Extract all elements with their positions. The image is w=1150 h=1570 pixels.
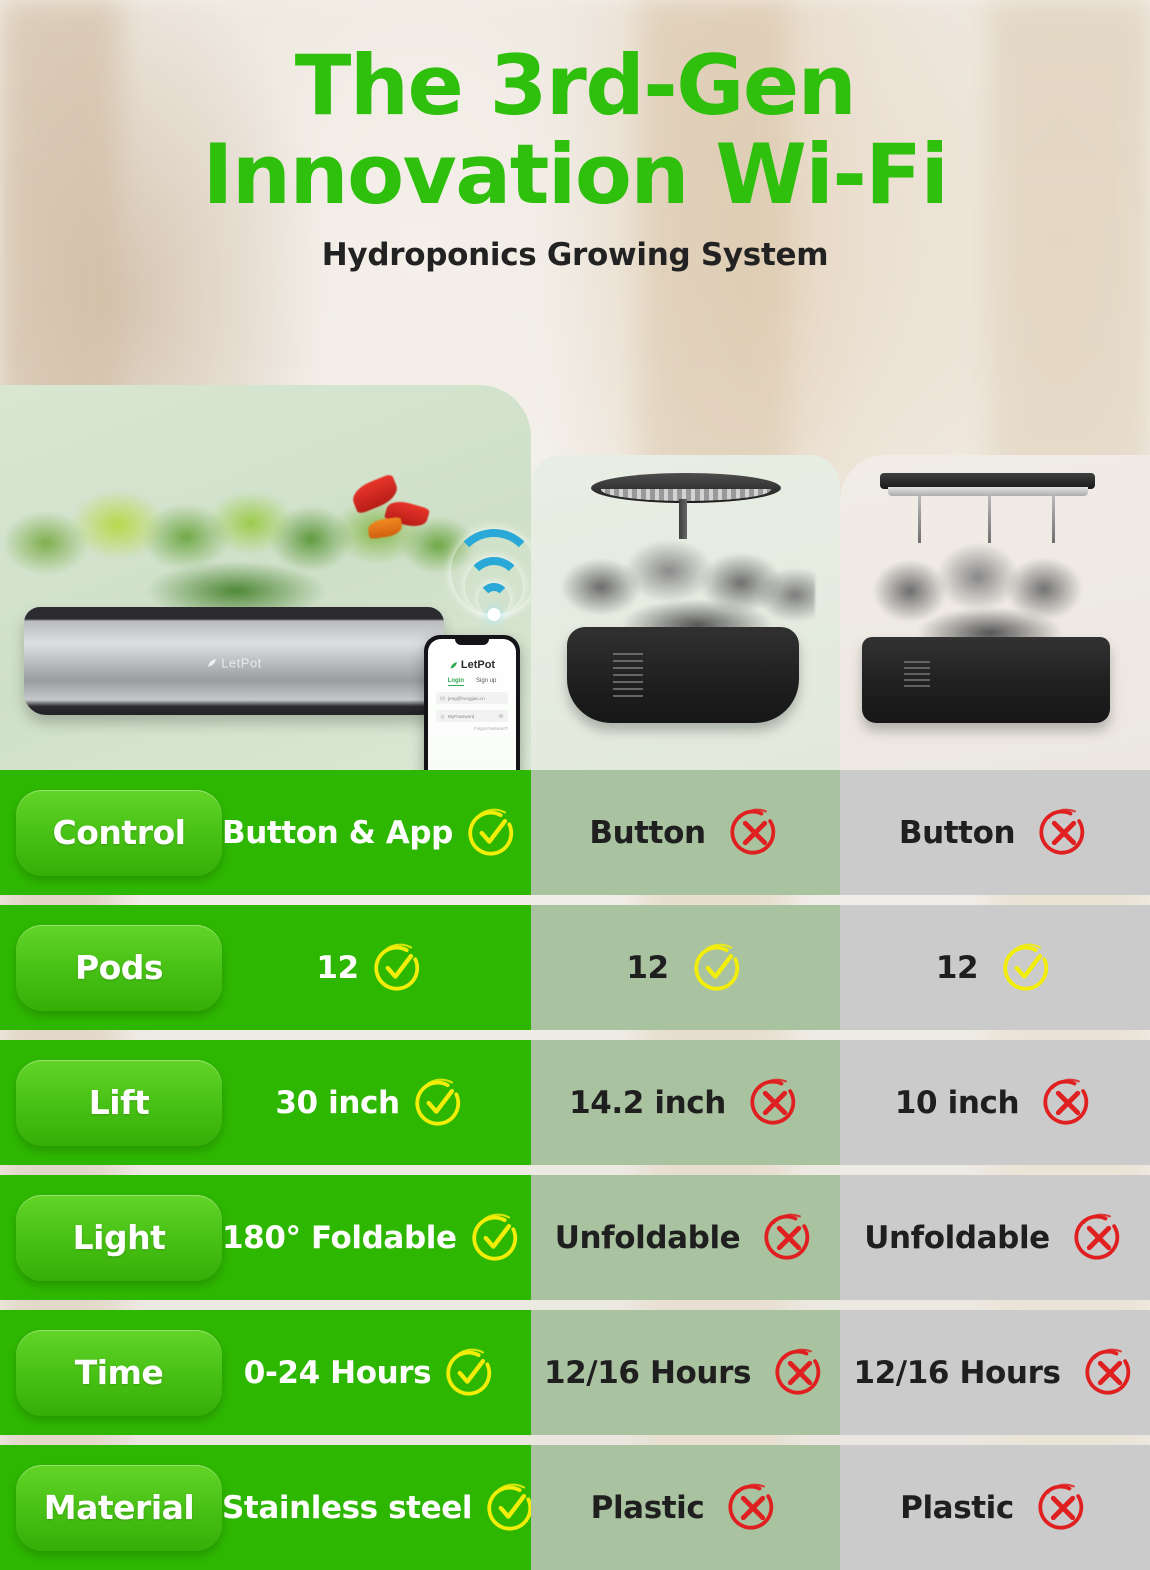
check-mark (484, 1481, 538, 1535)
check-mark-icon (371, 941, 425, 995)
competitor2-body (862, 637, 1110, 723)
cross-mark (1037, 806, 1091, 860)
competitor1-body (567, 627, 799, 723)
competitor1-cell: Plastic (531, 1445, 840, 1570)
competitor2-value: 12 (936, 950, 978, 986)
letpot-value: Stainless steel (222, 1490, 472, 1526)
letpot-value-group: 180° Foldable (222, 1211, 535, 1265)
feature-label-pill: Material (16, 1465, 222, 1551)
check-mark-icon (1000, 941, 1054, 995)
tab-signup[interactable]: Sign up (476, 678, 496, 686)
comparison-table: Control Button & App Button Button (0, 770, 1150, 1570)
competitor2-value: Button (899, 815, 1015, 851)
letpot-cell: Pods 12 (0, 905, 531, 1030)
letpot-cell: Time 0-24 Hours (0, 1310, 531, 1435)
letpot-cell: Light 180° Foldable (0, 1175, 531, 1300)
check-mark-icon (465, 806, 519, 860)
competitor2-cell: Button (840, 770, 1150, 895)
check-mark (691, 941, 745, 995)
competitor1-value: Button (589, 815, 705, 851)
password-field[interactable]: MyPassword (436, 710, 508, 722)
letpot-value-group: 30 inch (222, 1076, 531, 1130)
page-header: The 3rd-Gen Innovation Wi-Fi Hydroponics… (0, 0, 1150, 300)
letpot-value-group: 0-24 Hours (222, 1346, 531, 1400)
cross-mark (1072, 1211, 1126, 1265)
check-mark (371, 941, 425, 995)
table-row: Light 180° Foldable Unfoldable Unfoldabl… (0, 1175, 1150, 1300)
check-mark (443, 1346, 497, 1400)
cross-mark-icon (773, 1346, 827, 1400)
check-mark-icon (484, 1481, 538, 1535)
letpot-value-group: Stainless steel (222, 1481, 550, 1535)
phone-notch (455, 639, 489, 645)
feature-label-pill: Lift (16, 1060, 222, 1146)
mail-icon (440, 696, 445, 701)
table-row: Control Button & App Button Button (0, 770, 1150, 895)
page-title: The 3rd-Gen Innovation Wi-Fi (203, 46, 948, 215)
feature-label: Time (75, 1353, 164, 1392)
page-subtitle: Hydroponics Growing System (322, 237, 828, 273)
check-mark-icon (412, 1076, 466, 1130)
check-mark (412, 1076, 466, 1130)
table-row: Material Stainless steel Plastic Plastic (0, 1445, 1150, 1570)
letpot-value-group: 12 (222, 941, 531, 995)
competitor1-control-panel (613, 653, 643, 697)
competitor2-plants (866, 529, 1096, 653)
feature-label-pill: Pods (16, 925, 222, 1011)
letpot-value: 0-24 Hours (244, 1355, 431, 1391)
cross-mark-icon (1083, 1346, 1137, 1400)
feature-label: Light (73, 1218, 166, 1257)
email-value: jeng@hongjian.cn (448, 696, 485, 701)
password-value: MyPassword (448, 714, 495, 719)
check-mark (1000, 941, 1054, 995)
competitor2-control-panel (904, 661, 930, 689)
feature-label-pill: Control (16, 790, 222, 876)
forgot-password-link[interactable]: Forgot Password? (436, 726, 508, 731)
competitor2-value: Unfoldable (864, 1220, 1050, 1256)
letpot-value: 12 (316, 950, 358, 986)
hero-brand-logo: LetPot (206, 656, 262, 671)
letpot-value: Button & App (222, 815, 453, 851)
competitor1-value: Unfoldable (555, 1220, 741, 1256)
feature-label-pill: Time (16, 1330, 222, 1416)
hero-stainless-body: LetPot (24, 607, 444, 715)
cross-mark-icon (762, 1211, 816, 1265)
competitor1-cell: 12 (531, 905, 840, 1030)
app-logo: LetPot (436, 659, 508, 671)
hero-product-image: LetPot LetPot Login Sign up (0, 385, 531, 770)
leaf-icon (206, 658, 217, 669)
competitor2-value: 10 inch (895, 1085, 1019, 1121)
competitor2-cell: 12 (840, 905, 1150, 1030)
table-row: Pods 12 12 12 (0, 905, 1150, 1030)
title-line-2: Innovation Wi-Fi (203, 135, 948, 216)
email-field[interactable]: jeng@hongjian.cn (436, 692, 508, 704)
check-mark-icon (691, 941, 745, 995)
competitor1-value: 12/16 Hours (544, 1355, 751, 1391)
smartphone-app-mockup[interactable]: LetPot Login Sign up jeng@hongjian.cn (424, 635, 520, 770)
feature-label: Pods (75, 948, 163, 987)
feature-label-pill: Light (16, 1195, 222, 1281)
title-line-1: The 3rd-Gen (295, 37, 855, 134)
cross-mark (1041, 1076, 1095, 1130)
product-image-row: LetPot LetPot Login Sign up (0, 300, 1150, 770)
check-mark-icon (443, 1346, 497, 1400)
cross-mark-icon (748, 1076, 802, 1130)
tab-login[interactable]: Login (448, 678, 464, 686)
competitor1-product-image (531, 455, 840, 770)
competitor1-value: Plastic (591, 1490, 705, 1526)
cross-mark (773, 1346, 827, 1400)
check-mark-icon (469, 1211, 523, 1265)
competitor1-cell: 12/16 Hours (531, 1310, 840, 1435)
competitor1-cell: 14.2 inch (531, 1040, 840, 1165)
competitor2-cell: 10 inch (840, 1040, 1150, 1165)
cross-mark-icon (728, 806, 782, 860)
cross-mark-icon (1036, 1481, 1090, 1535)
letpot-cell: Control Button & App (0, 770, 531, 895)
letpot-cell: Lift 30 inch (0, 1040, 531, 1165)
competitor1-cell: Unfoldable (531, 1175, 840, 1300)
eye-icon[interactable] (498, 713, 504, 719)
cross-mark (762, 1211, 816, 1265)
competitor2-cell: Unfoldable (840, 1175, 1150, 1300)
cross-mark (726, 1481, 780, 1535)
competitor1-value: 12 (626, 950, 668, 986)
lock-icon (440, 714, 445, 719)
cross-mark-icon (1041, 1076, 1095, 1130)
competitor2-cell: 12/16 Hours (840, 1310, 1150, 1435)
feature-label: Material (44, 1488, 194, 1527)
cross-mark-icon (1072, 1211, 1126, 1265)
check-mark (465, 806, 519, 860)
competitor1-cell: Button (531, 770, 840, 895)
phone-screen: LetPot Login Sign up jeng@hongjian.cn (428, 639, 516, 770)
app-name-text: LetPot (461, 659, 495, 671)
competitor2-cell: Plastic (840, 1445, 1150, 1570)
table-row: Time 0-24 Hours 12/16 Hours 12/16 Hours (0, 1310, 1150, 1435)
letpot-value-group: Button & App (222, 806, 531, 860)
app-auth-tabs[interactable]: Login Sign up (436, 678, 508, 686)
cross-mark (728, 806, 782, 860)
cross-mark-icon (726, 1481, 780, 1535)
check-mark (469, 1211, 523, 1265)
letpot-value: 180° Foldable (222, 1220, 457, 1256)
cross-mark (1036, 1481, 1090, 1535)
competitor2-value: 12/16 Hours (853, 1355, 1060, 1391)
feature-label: Lift (89, 1083, 149, 1122)
competitor1-value: 14.2 inch (569, 1085, 726, 1121)
competitor2-value: Plastic (900, 1490, 1014, 1526)
hero-brand-text: LetPot (221, 656, 262, 671)
wifi-icon (446, 547, 531, 623)
table-row: Lift 30 inch 14.2 inch 10 inch (0, 1040, 1150, 1165)
letpot-cell: Material Stainless steel (0, 1445, 531, 1570)
cross-mark (748, 1076, 802, 1130)
letpot-value: 30 inch (275, 1085, 399, 1121)
feature-label: Control (53, 813, 186, 852)
hero-plants (6, 473, 476, 623)
competitor2-product-image (840, 455, 1150, 770)
cross-mark (1083, 1346, 1137, 1400)
leaf-icon (449, 661, 458, 670)
cross-mark-icon (1037, 806, 1091, 860)
